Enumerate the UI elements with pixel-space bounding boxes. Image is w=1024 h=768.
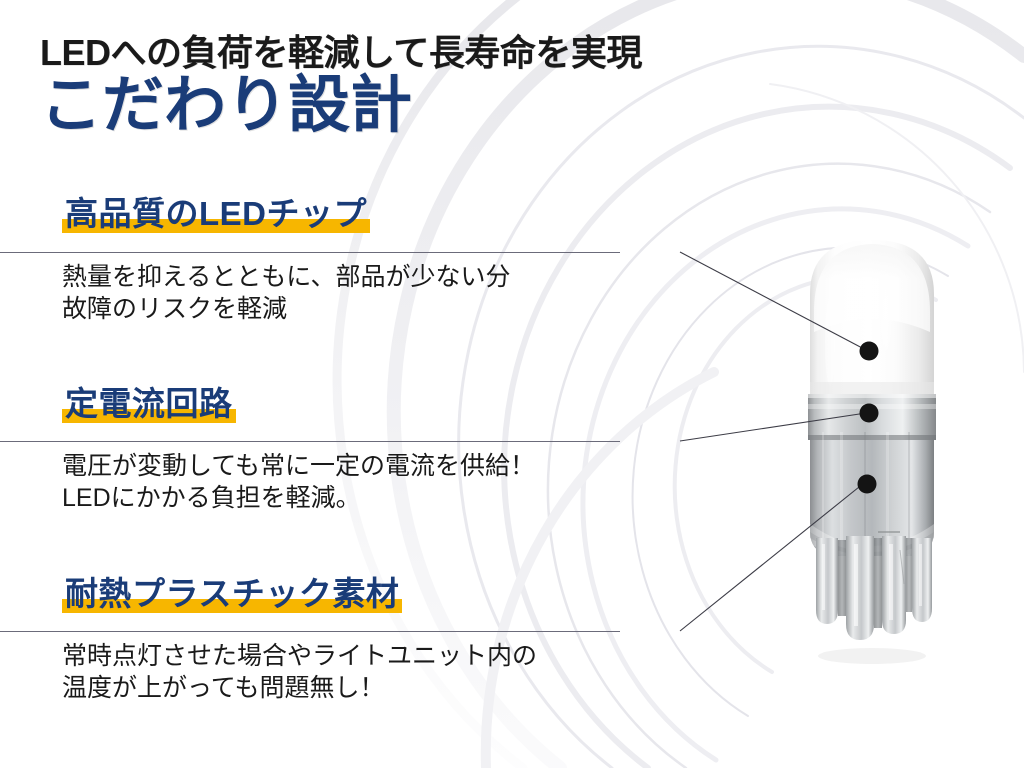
feature-block-constant-current: 定電流回路 xyxy=(62,386,236,424)
feature-body-line: 熱量を抑えるとともに、部品が少ない分 xyxy=(62,261,511,293)
feature-block-heat-resistant: 耐熱プラスチック素材 xyxy=(62,576,402,614)
feature-heading-text: 高品質のLEDチップ xyxy=(65,195,367,232)
feature-body-heat-resistant: 常時点灯させた場合やライトユニット内の 温度が上がっても問題無し！ xyxy=(62,640,537,704)
feature-heading-led-chip: 高品質のLEDチップ xyxy=(62,196,370,234)
feature-rule-constant-current xyxy=(0,441,620,442)
feature-rule-heat-resistant xyxy=(0,631,620,632)
feature-body-line: 温度が上がっても問題無し！ xyxy=(62,672,537,704)
feature-body-constant-current: 電圧が変動しても常に一定の電流を供給！ LEDにかかる負担を軽減。 xyxy=(62,450,535,514)
feature-block-led-chip: 高品質のLEDチップ xyxy=(62,196,370,234)
product-image-t10-led-bulb xyxy=(782,232,962,668)
feature-body-led-chip: 熱量を抑えるとともに、部品が少ない分 故障のリスクを軽減 xyxy=(62,261,511,325)
feature-body-line: 故障のリスクを軽減 xyxy=(62,293,511,325)
feature-body-line: 常時点灯させた場合やライトユニット内の xyxy=(62,640,537,672)
feature-heading-heat-resistant: 耐熱プラスチック素材 xyxy=(62,576,402,614)
bulb-chrome-collar xyxy=(808,394,936,440)
infographic-canvas: LEDへの負荷を軽減して長寿命を実現 こだわり設計 高品質のLEDチップ 熱量を… xyxy=(0,0,1024,768)
feature-rule-led-chip xyxy=(0,252,620,253)
feature-heading-text: 定電流回路 xyxy=(65,385,233,422)
bulb-wedge-base-contacts xyxy=(816,532,932,640)
page-headline: LEDへの負荷を軽減して長寿命を実現 xyxy=(40,34,642,72)
feature-body-line: 電圧が変動しても常に一定の電流を供給！ xyxy=(62,450,535,482)
feature-heading-constant-current: 定電流回路 xyxy=(62,386,236,424)
page-title: こだわり設計 xyxy=(40,74,642,137)
header-block: LEDへの負荷を軽減して長寿命を実現 こだわり設計 xyxy=(40,34,642,137)
feature-heading-text: 耐熱プラスチック素材 xyxy=(65,575,399,612)
feature-body-line: LEDにかかる負担を軽減。 xyxy=(62,482,535,514)
